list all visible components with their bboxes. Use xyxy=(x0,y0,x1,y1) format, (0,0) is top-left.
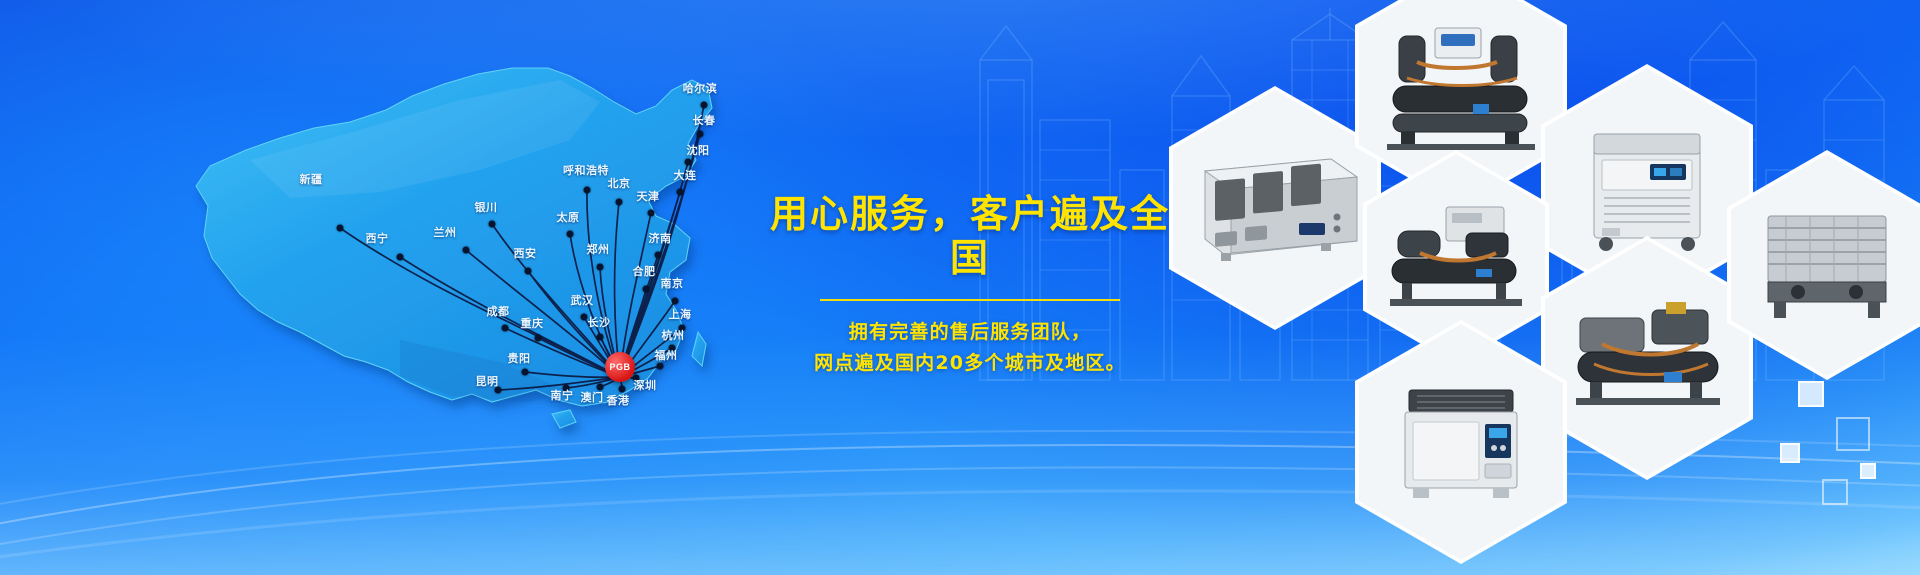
air-cooled-box-chiller-image xyxy=(1191,143,1359,273)
air-cooled-condenser-image xyxy=(1752,202,1902,328)
hex-inner xyxy=(1731,154,1920,376)
city-dot[interactable] xyxy=(648,210,655,217)
subtitle-line-1: 拥有完善的售后服务团队， xyxy=(760,317,1180,348)
city-label: 澳门 xyxy=(581,389,604,405)
city-dot[interactable] xyxy=(337,225,344,232)
hex-inner xyxy=(1359,324,1563,560)
marketing-banner: 哈尔滨长春沈阳呼和浩特北京大连天津银川太原新疆兰州西宁济南西安郑州合肥南京武汉成… xyxy=(0,0,1920,575)
city-label: 呼和浩特 xyxy=(563,162,609,178)
subtitle-line-2: 网点遍及国内20多个城市及地区。 xyxy=(760,348,1180,379)
city-dot[interactable] xyxy=(597,264,604,271)
city-label: 香港 xyxy=(607,392,630,408)
city-dot[interactable] xyxy=(489,221,496,228)
product-hex-air-cooled-box-chiller[interactable] xyxy=(1169,86,1381,330)
page-title: 用心服务，客户遍及全国 xyxy=(760,193,1180,280)
city-dot[interactable] xyxy=(522,369,529,376)
promo-copy: 用心服务，客户遍及全国 拥有完善的售后服务团队， 网点遍及国内20多个城市及地区… xyxy=(760,193,1180,379)
city-dot[interactable] xyxy=(502,325,509,332)
portable-air-chiller-image xyxy=(1572,116,1722,256)
city-label: 合肥 xyxy=(633,263,656,279)
condensing-unit-image xyxy=(1566,294,1728,422)
city-label: 太原 xyxy=(557,209,580,225)
city-label: 济南 xyxy=(649,230,672,246)
city-label: 西安 xyxy=(514,245,537,261)
city-label: 郑州 xyxy=(587,241,610,257)
city-label: 福州 xyxy=(655,347,678,363)
city-label: 银川 xyxy=(475,199,498,215)
city-label: 重庆 xyxy=(521,315,544,331)
city-label: 武汉 xyxy=(571,292,594,308)
product-hex-condensing-unit[interactable] xyxy=(1541,236,1753,480)
city-label: 南京 xyxy=(661,275,684,291)
city-label: 长春 xyxy=(693,112,716,128)
city-dot[interactable] xyxy=(397,254,404,261)
screw-water-chiller-image xyxy=(1377,18,1545,154)
city-label: 新疆 xyxy=(300,171,323,187)
city-label: 北京 xyxy=(608,175,631,191)
city-dot[interactable] xyxy=(657,363,664,370)
city-dot[interactable] xyxy=(685,159,692,166)
hq-label: PGB xyxy=(609,362,630,372)
headquarters-marker[interactable]: PGB xyxy=(605,352,635,382)
city-label: 西宁 xyxy=(366,230,389,246)
city-label: 深圳 xyxy=(634,377,657,393)
city-label: 哈尔滨 xyxy=(683,80,718,96)
city-dot[interactable] xyxy=(584,187,591,194)
city-dot[interactable] xyxy=(581,314,588,321)
hq-pin-icon: PGB xyxy=(605,352,635,382)
product-hex-industrial-water-chiller[interactable] xyxy=(1355,320,1567,564)
china-distribution-map: 哈尔滨长春沈阳呼和浩特北京大连天津银川太原新疆兰州西宁济南西安郑州合肥南京武汉成… xyxy=(100,10,740,440)
city-dot[interactable] xyxy=(643,286,650,293)
city-dot[interactable] xyxy=(535,335,542,342)
city-dot[interactable] xyxy=(655,252,662,259)
city-label: 南宁 xyxy=(551,387,574,403)
open-type-compressor-unit-image xyxy=(1380,197,1532,317)
industrial-water-chiller-image xyxy=(1383,376,1539,508)
city-dot[interactable] xyxy=(525,268,532,275)
city-dot[interactable] xyxy=(672,298,679,305)
city-label: 沈阳 xyxy=(687,142,710,158)
city-dot[interactable] xyxy=(567,231,574,238)
city-label: 昆明 xyxy=(476,373,499,389)
city-dot[interactable] xyxy=(697,131,704,138)
product-hexagon-gallery xyxy=(1175,0,1920,575)
city-label: 杭州 xyxy=(662,327,685,343)
city-dot[interactable] xyxy=(677,189,684,196)
city-dot[interactable] xyxy=(616,199,623,206)
title-divider xyxy=(820,299,1120,301)
hex-inner xyxy=(1545,240,1749,476)
city-label: 大连 xyxy=(674,167,697,183)
city-label: 成都 xyxy=(487,303,510,319)
city-label: 贵阳 xyxy=(508,350,531,366)
city-label: 长沙 xyxy=(588,314,611,330)
hex-inner xyxy=(1173,90,1377,326)
city-label: 上海 xyxy=(669,306,692,322)
city-label: 天津 xyxy=(637,188,660,204)
city-dot[interactable] xyxy=(463,247,470,254)
city-dot[interactable] xyxy=(597,334,604,341)
product-hex-air-cooled-condenser[interactable] xyxy=(1727,150,1920,380)
city-label: 兰州 xyxy=(434,224,457,240)
city-dot[interactable] xyxy=(701,102,708,109)
